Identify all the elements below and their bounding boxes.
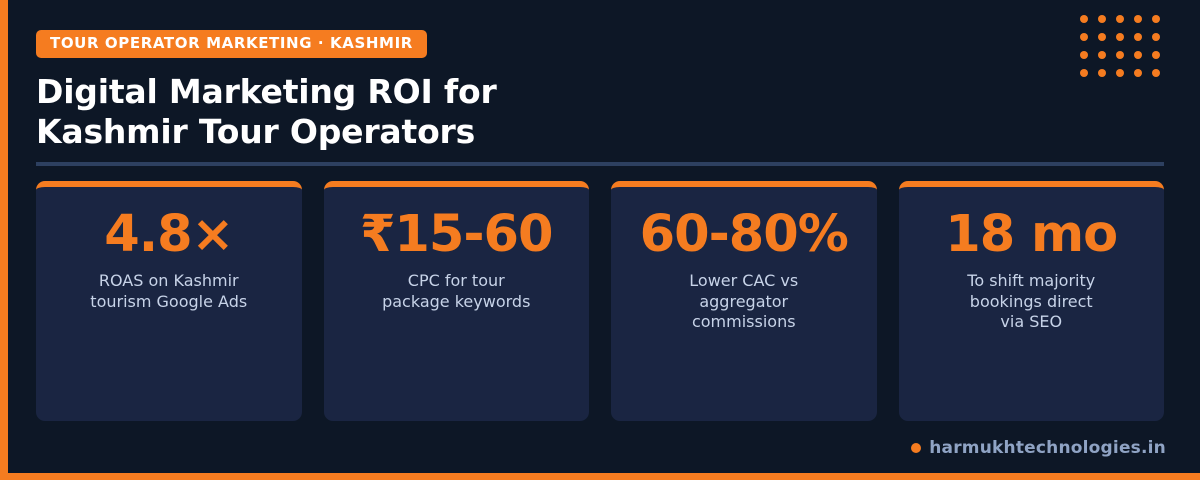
grid-dot [1116, 69, 1124, 77]
page-title-line-1: Digital Marketing ROI for [36, 72, 497, 111]
footer-branding: harmukhtechnologies.in [911, 438, 1166, 458]
stat-label-line-2: package keywords [382, 292, 530, 311]
stat-card-grid: 4.8× ROAS on Kashmir tourism Google Ads … [36, 181, 1164, 421]
stat-card-cac: 60-80% Lower CAC vs aggregator commissio… [611, 181, 877, 421]
grid-dot [1152, 51, 1160, 59]
grid-dot [1116, 33, 1124, 41]
stat-value: 4.8× [48, 207, 290, 262]
stat-value: 60-80% [623, 207, 865, 262]
stat-label-line-3: via SEO [1000, 312, 1062, 331]
stat-label: CPC for tour package keywords [336, 271, 578, 312]
page-title-line-2: Kashmir Tour Operators [36, 112, 475, 151]
stat-value: 18 mo [911, 207, 1153, 262]
grid-dot [1116, 15, 1124, 23]
grid-dot [1134, 69, 1142, 77]
grid-dot [1134, 51, 1142, 59]
stat-card-cpc: ₹15-60 CPC for tour package keywords [324, 181, 590, 421]
header: TOUR OPERATOR MARKETING · KASHMIR Digita… [36, 30, 1066, 152]
stat-label-line-1: CPC for tour [408, 271, 505, 290]
dot-grid-decoration [1080, 15, 1170, 87]
header-divider [36, 162, 1164, 166]
stat-label-line-1: ROAS on Kashmir [99, 271, 239, 290]
stat-label-line-2: tourism Google Ads [90, 292, 247, 311]
stat-label-line-2: bookings direct [970, 292, 1093, 311]
grid-dot [1080, 33, 1088, 41]
stat-label-line-2: aggregator [699, 292, 788, 311]
grid-dot [1098, 15, 1106, 23]
grid-dot [1098, 33, 1106, 41]
grid-dot [1098, 69, 1106, 77]
stat-label-line-1: Lower CAC vs [689, 271, 798, 290]
bottom-accent-bar [0, 473, 1200, 480]
category-badge: TOUR OPERATOR MARKETING · KASHMIR [36, 30, 427, 58]
grid-dot [1098, 51, 1106, 59]
grid-dot [1152, 15, 1160, 23]
footer-website: harmukhtechnologies.in [929, 438, 1166, 458]
grid-dot [1080, 15, 1088, 23]
page-title: Digital Marketing ROI for Kashmir Tour O… [36, 72, 1066, 153]
infographic-root: TOUR OPERATOR MARKETING · KASHMIR Digita… [0, 0, 1200, 480]
grid-dot [1152, 69, 1160, 77]
grid-dot [1134, 33, 1142, 41]
grid-dot [1134, 15, 1142, 23]
left-accent-bar [0, 0, 8, 480]
stat-label: ROAS on Kashmir tourism Google Ads [48, 271, 290, 312]
stat-label-line-1: To shift majority [967, 271, 1095, 290]
stat-label: Lower CAC vs aggregator commissions [623, 271, 865, 332]
grid-dot [1152, 33, 1160, 41]
stat-label: To shift majority bookings direct via SE… [911, 271, 1153, 332]
stat-card-roas: 4.8× ROAS on Kashmir tourism Google Ads [36, 181, 302, 421]
stat-label-line-3: commissions [692, 312, 796, 331]
grid-dot [1116, 51, 1124, 59]
stat-value: ₹15-60 [336, 207, 578, 262]
bullet-dot-icon [911, 443, 921, 453]
grid-dot [1080, 69, 1088, 77]
stat-card-timeline: 18 mo To shift majority bookings direct … [899, 181, 1165, 421]
grid-dot [1080, 51, 1088, 59]
